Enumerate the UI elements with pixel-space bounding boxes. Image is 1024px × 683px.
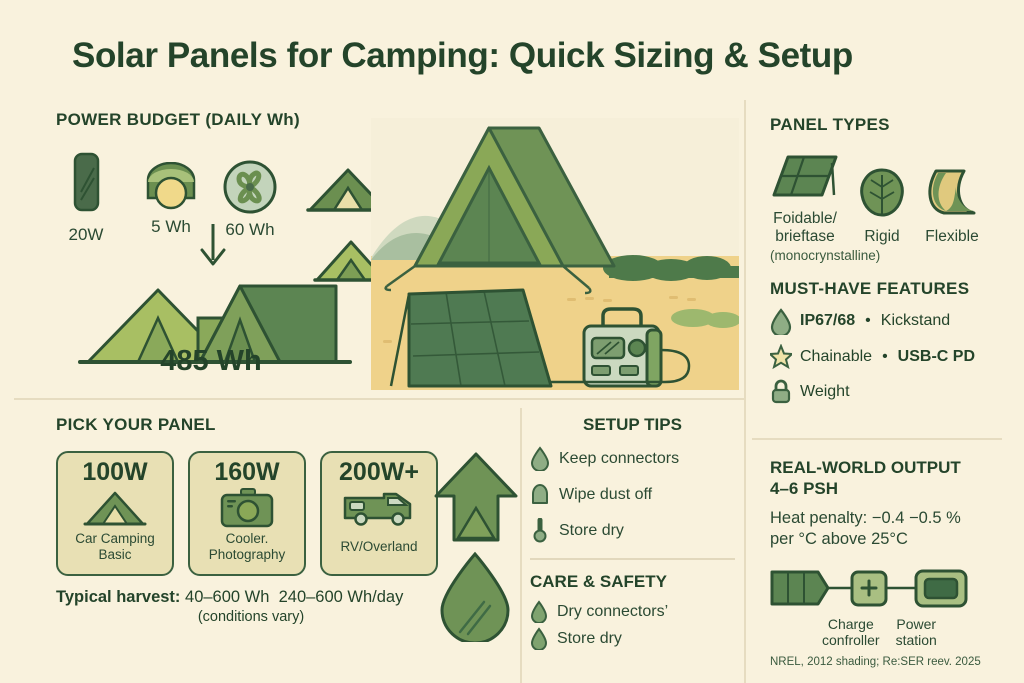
real-world-output-section: REAL-WORLD OUTPUT 4–6 PSH Heat penalty: … <box>770 457 1008 668</box>
chain-icons <box>770 564 1000 612</box>
droplet-icon <box>770 308 792 335</box>
tip-item: Store dry <box>530 518 735 543</box>
down-arrow-icon <box>196 222 230 272</box>
power-item-phone-label: 20W <box>66 225 106 245</box>
tip-label: Store dry <box>559 522 624 540</box>
panel-type-label: Flexible <box>924 228 980 246</box>
rv-icon <box>342 488 416 528</box>
output-body-line2: per °C above 25°C <box>770 529 1008 550</box>
features-heading: MUST-HAVE FEATURES <box>770 279 1008 299</box>
panel-card-label: Car Camping Basic <box>71 531 159 563</box>
leaf-droplet-icon <box>436 548 514 642</box>
campsite-illustration <box>371 118 739 390</box>
star-icon <box>770 344 792 370</box>
output-body-line1: Heat penalty: −0.4 −0.5 % <box>770 508 1008 529</box>
panel-card-200w[interactable]: 200W+ RV/Overland <box>320 451 438 576</box>
panel-card-watt: 200W+ <box>339 459 419 485</box>
panel-card-label: RV/Overland <box>336 539 421 555</box>
panel-type-label: Foidable/ brieftase <box>770 210 840 246</box>
feature-row: Chainable • USB-C PD <box>770 344 1008 370</box>
feature-row: Weight <box>770 379 1008 405</box>
power-item-lantern-label: 5 Wh <box>140 217 202 237</box>
feature-left-label: Chainable <box>800 348 872 366</box>
feature-left-label: Weight <box>800 383 850 401</box>
tip-item: Wipe dust off <box>530 482 735 507</box>
harvest-value-2: 240–600 Wh/day <box>279 588 404 606</box>
chain-labels: Charge confroller Power station <box>822 616 1008 648</box>
droplet-icon <box>530 446 550 471</box>
tip-label: Wipe dust off <box>559 486 652 504</box>
power-budget-section: POWER BUDGET (DAILY Wh) 20W 5 Wh <box>56 110 366 232</box>
care-safety-heading: CARE & SAFETY <box>530 572 735 592</box>
panel-type-flexible[interactable]: Flexible <box>924 167 980 246</box>
flexible-panel-icon <box>924 167 980 219</box>
monocrystalline-note: (monocrynstalline) <box>770 248 1008 263</box>
panel-card-watt: 160W <box>214 459 279 485</box>
setup-tips-section: SETUP TIPS Keep connectors Wipe dust off… <box>530 415 735 650</box>
feature-separator: • <box>863 312 873 330</box>
chain-label-charge-controller: Charge confroller <box>822 616 880 648</box>
power-budget-heading: POWER BUDGET (DAILY Wh) <box>56 110 366 130</box>
feature-right-label: USB-C PD <box>898 348 975 366</box>
panel-type-label: Rigid <box>856 228 908 246</box>
pick-panel-heading: PICK YOUR PANEL <box>56 415 476 435</box>
panel-card-100w[interactable]: 100W Car Camping Basic <box>56 451 174 576</box>
pick-panel-section: PICK YOUR PANEL 100W Car Camping Basic 1… <box>56 415 476 625</box>
feature-left-label: IP67/68 <box>800 312 855 330</box>
power-budget-icons: 20W 5 Wh <box>56 152 366 232</box>
feature-row: IP67/68 • Kickstand <box>770 308 1008 335</box>
camera-icon <box>219 487 275 529</box>
leaf-icon <box>856 167 908 219</box>
harvest-label: Typical harvest: <box>56 588 180 606</box>
tent-icon <box>82 488 148 528</box>
divider-horizontal-main <box>14 398 744 400</box>
harvest-value-1: 40–600 Wh <box>185 588 269 606</box>
power-item-lantern: 5 Wh <box>140 162 202 237</box>
system-chain-diagram <box>770 564 1008 612</box>
lock-icon <box>770 379 792 405</box>
droplet-icon <box>530 627 548 650</box>
feature-right-label: Kickstand <box>881 312 950 330</box>
power-budget-total: 485 Wh <box>56 345 366 378</box>
tip-item: Keep connectors <box>530 446 735 471</box>
panel-types-list: Foidable/ brieftase Rigid <box>770 149 1008 246</box>
panel-type-rigid[interactable]: Rigid <box>856 167 908 246</box>
panel-type-foldable[interactable]: Foidable/ brieftase <box>770 149 840 246</box>
thermometer-icon <box>530 518 550 543</box>
droplet-icon <box>530 600 548 623</box>
divider-tips <box>530 558 735 560</box>
fan-icon <box>221 159 279 215</box>
divider-vertical-sidebar <box>744 100 746 683</box>
up-arrow-icon <box>428 448 524 548</box>
care-label: Store dry <box>557 630 622 648</box>
lantern-icon <box>140 162 202 214</box>
phone-icon <box>66 152 106 214</box>
output-heading-line1: REAL-WORLD OUTPUT <box>770 457 1008 478</box>
power-item-phone: 20W <box>66 152 106 245</box>
source-citation: NREL, 2012 shading; Re:SER reev. 2025 <box>770 656 1008 668</box>
typical-harvest-line: Typical harvest: 40–600 Wh 240–600 Wh/da… <box>56 588 476 607</box>
care-item: Store dry <box>530 627 735 650</box>
care-label: Dry connectors’ <box>557 603 668 621</box>
care-item: Dry connectors’ <box>530 600 735 623</box>
panel-card-160w[interactable]: 160W Cooler. Photography <box>188 451 306 576</box>
sidebar: PANEL TYPES Foidable/ brieftase <box>770 115 1008 668</box>
chain-label-power-station: Power station <box>896 616 937 648</box>
solar-panel-icon <box>770 149 840 201</box>
panel-types-heading: PANEL TYPES <box>770 115 1008 135</box>
dome-icon <box>530 482 550 507</box>
panel-cards: 100W Car Camping Basic 160W <box>56 451 476 576</box>
setup-tips-heading: SETUP TIPS <box>530 415 735 435</box>
page-title: Solar Panels for Camping: Quick Sizing &… <box>72 36 853 76</box>
panel-card-watt: 100W <box>82 459 147 485</box>
harvest-note: (conditions vary) <box>56 609 446 625</box>
infographic-page: Solar Panels for Camping: Quick Sizing &… <box>0 0 1024 683</box>
tip-label: Keep connectors <box>559 450 679 468</box>
feature-separator: • <box>880 348 890 366</box>
panel-card-label: Cooler. Photography <box>205 531 290 563</box>
output-heading-line2: 4–6 PSH <box>770 478 1008 499</box>
